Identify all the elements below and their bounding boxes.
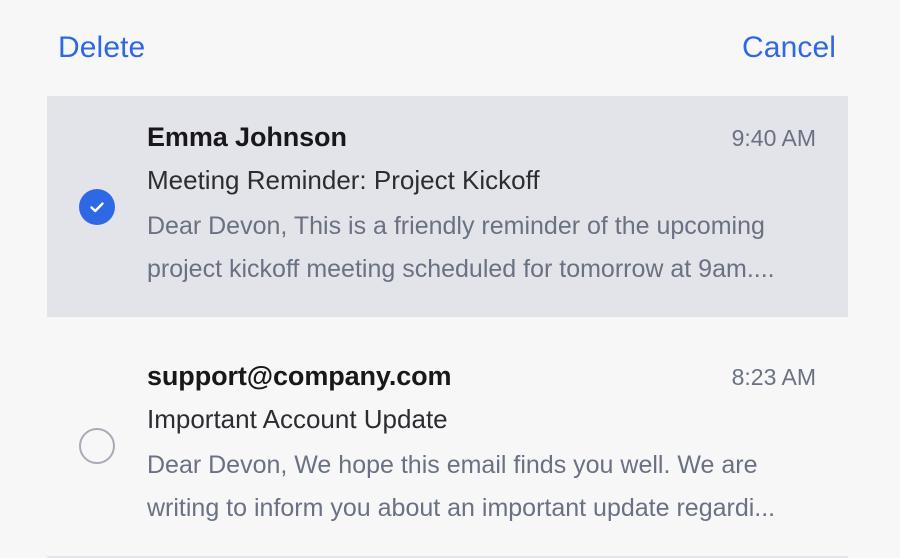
email-list: Emma Johnson 9:40 AM Meeting Reminder: P…: [47, 96, 848, 558]
email-content-1: support@company.com 8:23 AM Important Ac…: [147, 335, 848, 556]
email-subject: Meeting Reminder: Project Kickoff: [147, 164, 816, 196]
email-preview: Dear Devon, This is a friendly reminder …: [147, 205, 816, 291]
email-timestamp: 9:40 AM: [732, 123, 816, 153]
check-circle-filled-icon[interactable]: [79, 189, 115, 225]
email-header-0: Emma Johnson 9:40 AM: [147, 120, 816, 154]
email-selection-screen: Delete Cancel Emma Johnson 9:40 AM Meeti…: [0, 0, 900, 526]
email-list-item-0[interactable]: Emma Johnson 9:40 AM Meeting Reminder: P…: [47, 96, 848, 317]
email-list-item-1[interactable]: support@company.com 8:23 AM Important Ac…: [47, 335, 848, 556]
row-spacer: [47, 317, 848, 335]
email-header-1: support@company.com 8:23 AM: [147, 359, 816, 393]
circle-outline-icon[interactable]: [79, 428, 115, 464]
email-subject: Important Account Update: [147, 403, 816, 435]
select-cell-0: [47, 96, 147, 317]
select-cell-1: [47, 335, 147, 556]
email-timestamp: 8:23 AM: [732, 362, 816, 392]
action-bar: Delete Cancel: [0, 0, 900, 96]
email-preview: Dear Devon, We hope this email finds you…: [147, 444, 816, 530]
delete-button[interactable]: Delete: [58, 31, 145, 65]
email-content-0: Emma Johnson 9:40 AM Meeting Reminder: P…: [147, 96, 848, 317]
email-sender: support@company.com: [147, 359, 451, 393]
cancel-button[interactable]: Cancel: [742, 31, 836, 65]
email-sender: Emma Johnson: [147, 120, 347, 154]
